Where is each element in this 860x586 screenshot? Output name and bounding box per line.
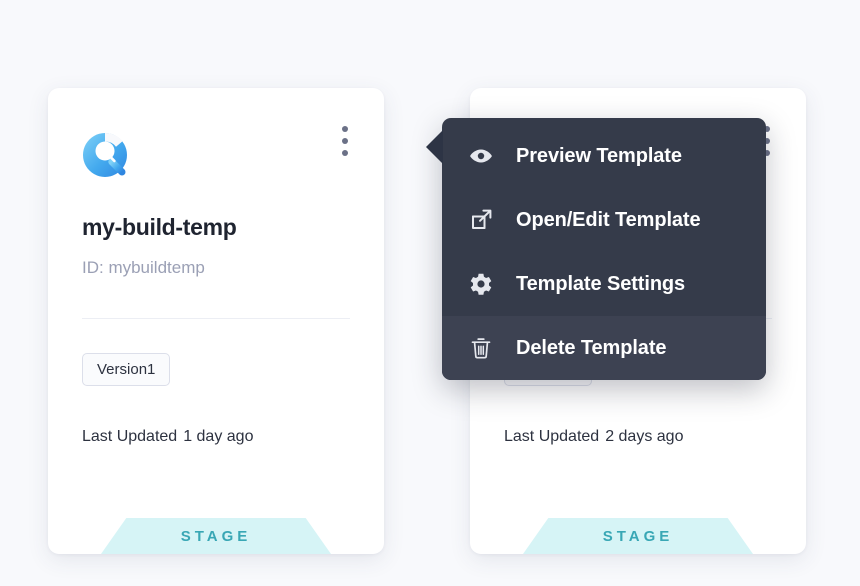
kebab-dot-1 (342, 126, 348, 132)
eye-icon (466, 144, 496, 168)
page-title: my-build-temp (82, 214, 237, 241)
last-updated: Last Updated2 days ago (504, 428, 683, 446)
gear-icon (466, 272, 496, 296)
menu-item-delete-template[interactable]: Delete Template (442, 316, 766, 380)
last-updated-label: Last Updated (82, 428, 177, 445)
kebab-dot-3 (342, 150, 348, 156)
last-updated-value: 1 day ago (183, 428, 253, 445)
version-badge[interactable]: Version1 (82, 353, 170, 386)
kebab-dot-2 (342, 138, 348, 144)
menu-item-label: Template Settings (516, 273, 685, 296)
menu-item-label: Preview Template (516, 145, 682, 168)
card-content: my-build-temp ID: mybuildtemp Version1 L… (48, 88, 384, 554)
last-updated-value: 2 days ago (605, 428, 683, 445)
last-updated: Last Updated1 day ago (82, 428, 253, 446)
menu-item-open-edit-template[interactable]: Open/Edit Template (442, 188, 766, 252)
external-link-icon (466, 208, 496, 232)
menu-item-template-settings[interactable]: Template Settings (442, 252, 766, 316)
menu-item-preview-template[interactable]: Preview Template (442, 124, 766, 188)
divider (82, 318, 350, 319)
template-id-label: ID: mybuildtemp (82, 258, 205, 278)
status-badge: STAGE (523, 518, 753, 554)
trash-icon (466, 336, 496, 360)
last-updated-label: Last Updated (504, 428, 599, 445)
menu-item-label: Open/Edit Template (516, 209, 701, 232)
menu-item-label: Delete Template (516, 337, 666, 360)
template-card-left[interactable]: my-build-temp ID: mybuildtemp Version1 L… (48, 88, 384, 554)
stage-label: STAGE (603, 528, 674, 545)
more-vertical-icon[interactable] (334, 124, 356, 158)
status-badge: STAGE (101, 518, 331, 554)
search-circle-logo-icon (82, 132, 128, 178)
context-menu-caret-icon (426, 130, 443, 164)
context-menu: Preview Template Open/Edit Template Temp… (442, 118, 766, 380)
stage-label: STAGE (181, 528, 252, 545)
